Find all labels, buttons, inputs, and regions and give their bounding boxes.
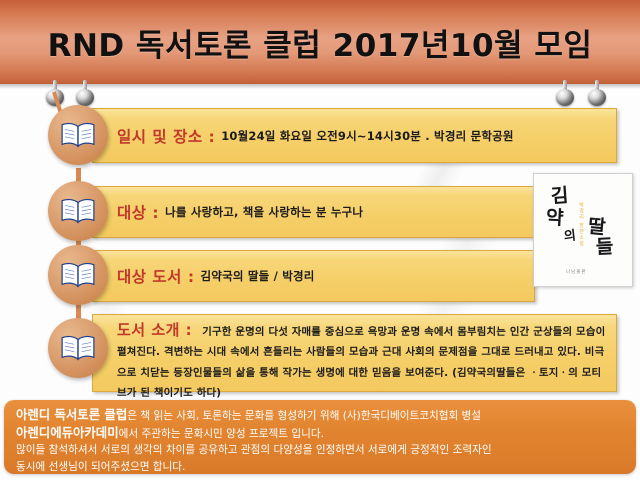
book-cover-char: 약 [546,209,564,229]
open-book-glyph [59,121,97,149]
info-card-description: 도서 소개 : 기구한 운명의 다섯 자매를 중심으로 욕망과 운명 속에서 몸… [92,314,617,392]
open-book-icon [48,181,108,241]
header-shadow [0,84,640,89]
book-cover-char: 의 [563,229,576,243]
info-card-label: 도서 소개 : [117,321,192,339]
open-book-icon [48,245,108,305]
info-card-datetime: 일시 및 장소 : 10월24일 화요일 오전9시~14시30분 . 박경리 문… [92,108,617,163]
footer-line-2-rest: 에서 주관하는 문화시민 양성 프로젝트 입니다. [119,428,324,440]
info-card-value: 나를 사랑하고, 책을 사랑하는 분 누구나 [165,204,363,220]
book-cover-publisher: 나남출판 [566,269,587,275]
ring-head [556,89,574,106]
book-cover-image: 김 약 의 딸 들 박경리 장편소설 나남출판 [533,173,633,287]
footer-club-name: 아렌디 독서토론 클럽 [16,407,127,422]
poster-canvas: RND 독서토론 클럽 2017년10월 모임 일시 및 장소 : 10월24일… [0,0,640,480]
footer-line-1-rest: 은 책 읽는 사회, 토론하는 문화를 형성하기 위해 (사)한국디베이트코치협… [127,410,481,422]
book-cover-char: 들 [596,238,614,258]
footer-line-2: 아렌디에듀아카데미에서 주관하는 문화시민 양성 프로젝트 입니다. [16,425,626,443]
info-card-label: 대상 : [117,201,159,223]
ring-head [76,89,94,106]
spiral-ring-icon [588,80,606,106]
info-card-book: 대상 도서 : 김약국의 딸들 / 박경리 [92,250,535,302]
info-card-label: 일시 및 장소 : [117,125,215,147]
header-banner: RND 독서토론 클럽 2017년10월 모임 [0,0,640,84]
info-card-text: 대상 도서 : 김약국의 딸들 / 박경리 [93,251,534,301]
info-card-value: 10월24일 화요일 오전9시~14시30분 . 박경리 문학공원 [221,128,514,144]
book-cover-char: 김 [550,186,569,206]
info-card-text: 도서 소개 : 기구한 운명의 다섯 자매를 중심으로 욕망과 운명 속에서 몸… [93,315,616,391]
footer-line-4: 동시에 선생님이 되어주셨으면 합니다. [16,459,626,476]
footer-note: 아렌디 독서토론 클럽은 책 읽는 사회, 토론하는 문화를 형성하기 위해 (… [4,400,636,474]
open-book-glyph [59,334,97,362]
book-cover-subtitle: 박경리 장편소설 [578,202,585,247]
open-book-icon [48,105,108,165]
info-card-text: 대상 : 나를 사랑하고, 책을 사랑하는 분 누구나 [93,187,534,237]
ring-head [588,89,606,106]
footer-line-1: 아렌디 독서토론 클럽은 책 읽는 사회, 토론하는 문화를 형성하기 위해 (… [16,407,626,425]
spiral-ring-icon [556,80,574,106]
info-card-text: 일시 및 장소 : 10월24일 화요일 오전9시~14시30분 . 박경리 문… [93,109,616,162]
book-cover-char: 딸 [587,217,606,237]
footer-academy-name: 아렌디에듀아카데미 [16,425,119,440]
open-book-glyph [59,197,97,225]
spiral-ring-icon [76,80,94,106]
info-card-value: 김약국의 딸들 / 박경리 [201,268,315,284]
open-book-glyph [59,261,97,289]
page-title: RND 독서토론 클럽 2017년10월 모임 [48,20,593,65]
open-book-icon [48,318,108,378]
footer-line-3: 많이들 참석하셔서 서로의 생각의 차이를 공유하고 관점의 다양성을 인정하면… [16,442,626,459]
info-card-audience: 대상 : 나를 사랑하고, 책을 사랑하는 분 누구나 [92,186,535,238]
info-card-label: 대상 도서 : [117,265,195,287]
